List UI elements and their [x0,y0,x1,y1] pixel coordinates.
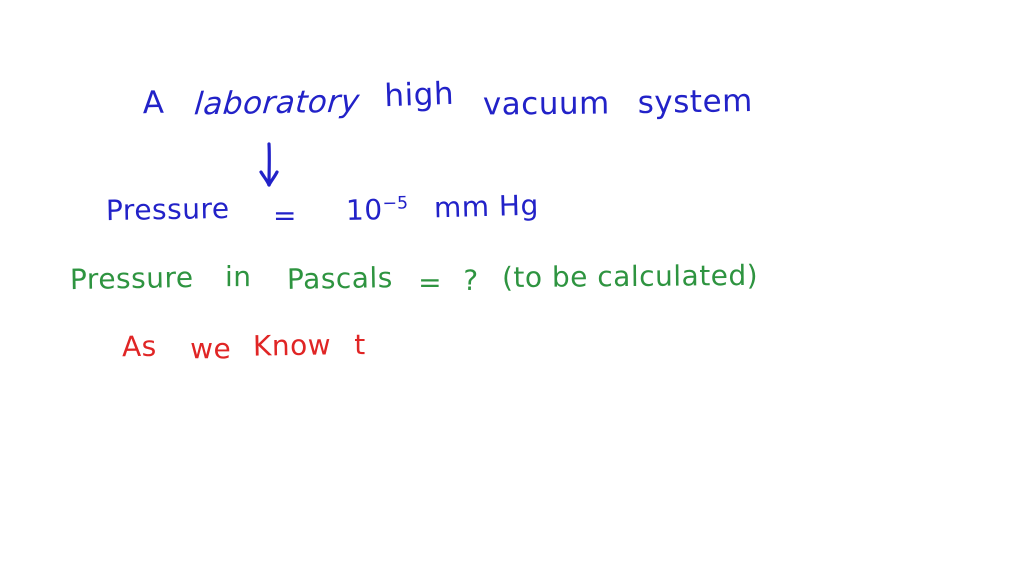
note-word-we: we [190,335,231,363]
handwritten-line-note: As we Know t [122,333,366,361]
word-high: high [384,79,455,112]
down-arrow-icon [252,141,286,189]
question-label: Pressure [70,264,194,294]
word-a: A [142,88,165,120]
handwritten-line-title: A laboratory high vacuum system [143,88,753,119]
note-trailing-char: t [354,331,365,359]
note-word-know: Know [252,331,331,360]
question-preposition: in [225,263,252,291]
pressure-unit: mm Hg [434,192,539,223]
pressure-label: Pressure [106,195,230,225]
pressure-value: 10−5 [346,195,409,224]
question-equals: = [418,269,442,297]
word-vacuum: vacuum [482,88,609,120]
handwritten-line-question: Pressure in Pascals = ? (to be calculate… [70,265,758,293]
equals-sign: = [273,202,297,230]
handwritten-line-pressure: Pressure = 10−5 mm Hg [106,196,539,224]
question-note: (to be calculated) [502,262,758,292]
word-laboratory: laboratory [193,87,361,121]
word-system: system [637,86,753,119]
handwritten-whiteboard: A laboratory high vacuum system Pressure… [0,0,1024,576]
note-word-as: As [122,333,157,362]
question-mark: ? [463,267,479,296]
pressure-exponent: −5 [383,193,409,213]
question-unit: Pascals [287,264,393,294]
pressure-base: 10 [346,193,383,227]
